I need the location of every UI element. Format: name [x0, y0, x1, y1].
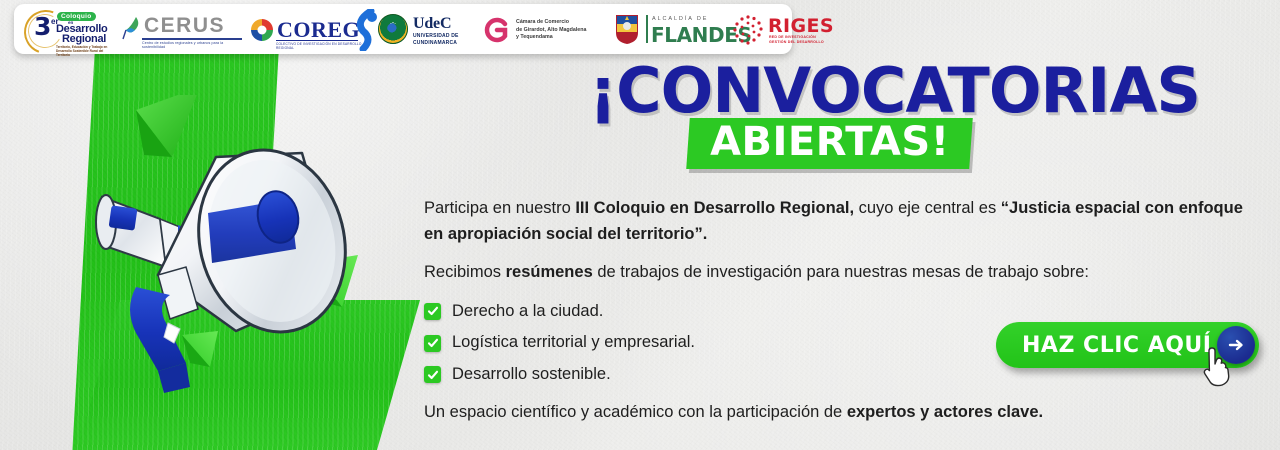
coreg-mark-icon	[250, 18, 274, 42]
flandes-kicker: ALCALDÍA DE	[652, 16, 708, 22]
list-item-label: Derecho a la ciudad.	[452, 299, 603, 325]
camara-line1: Cámara de Comercio	[516, 19, 569, 25]
udec-line2: CUNDINAMARCA	[413, 40, 457, 46]
coloquio-tagline: Territorio, Educación y Trabajo en Desar…	[56, 45, 112, 57]
logo-udec: UdeC UNIVERSIDAD DE CUNDINAMARCA	[374, 7, 480, 51]
riges-line1: RED DE INVESTIGACIÓN	[769, 35, 816, 39]
p3-bold1: expertos y actores clave.	[847, 403, 1043, 421]
coloquio-number: 3	[34, 14, 51, 39]
camara-text: Cámara de Comercio de Girardot, Alto Mag…	[516, 19, 608, 42]
check-icon	[424, 335, 441, 352]
headline: ¡CONVOCATORIAS	[500, 60, 1200, 122]
megaphone-illustration	[40, 95, 400, 415]
flandes-divider	[646, 15, 648, 43]
check-icon	[424, 303, 441, 320]
coreg-rule	[276, 40, 358, 41]
list-item-label: Logística territorial y empresarial.	[452, 330, 695, 356]
megaphone-large	[130, 134, 364, 393]
coloquio-line2: Regional	[62, 34, 106, 45]
p1-bold1: III Coloquio en Desarrollo Regional,	[575, 199, 854, 217]
logo-cerus: CERUS Centro de estudios regionales y ur…	[118, 7, 246, 51]
paragraph-1: Participa en nuestro III Coloquio en Des…	[424, 196, 1260, 247]
camara-line3: y Tequendama	[516, 34, 553, 40]
cerus-title: CERUS	[144, 14, 225, 38]
subhead-text: ABIERTAS!	[710, 122, 949, 162]
riges-subtitle: RED DE INVESTIGACIÓN GESTIÓN DEL DESARRO…	[769, 35, 824, 46]
logo-coloquio: 3 er Coloquio en Desarrollo Regional Ter…	[22, 7, 118, 51]
p3-part1: Un espacio científico y académico con la…	[424, 403, 847, 421]
udec-subtitle: UNIVERSIDAD DE CUNDINAMARCA	[413, 33, 459, 47]
logo-camara-comercio: Cámara de Comercio de Girardot, Alto Mag…	[480, 7, 608, 51]
flandes-shield-icon	[614, 13, 640, 45]
green-arrow-triangle-bottom	[182, 331, 218, 367]
cerus-leaf-icon	[122, 16, 142, 40]
subhead-chip: ABIERTAS!	[687, 118, 974, 169]
promotional-banner: 3 er Coloquio en Desarrollo Regional Ter…	[0, 0, 1280, 450]
riges-line2: GESTIÓN DEL DESARROLLO	[769, 40, 824, 44]
logo-coreg: COREG COLECTIVO DE INVESTIGACIÓN EN DESA…	[246, 7, 374, 51]
body-copy: Participa en nuestro III Coloquio en Des…	[424, 196, 1260, 439]
paragraph-3: Un espacio científico y académico con la…	[424, 400, 1260, 426]
cerus-rule	[142, 38, 242, 40]
riges-dots-icon	[732, 14, 764, 46]
camara-g-icon	[484, 17, 510, 43]
cursor-hand-icon	[1200, 347, 1234, 387]
subhead-wrapper: ABIERTAS!	[640, 118, 1020, 169]
riges-title: RIGES	[768, 15, 834, 37]
cta-label: HAZ CLIC AQUÍ	[1022, 333, 1211, 358]
p2-part1: Recibimos	[424, 263, 506, 281]
p1-part1: Participa en nuestro	[424, 199, 575, 217]
coloquio-pill: Coloquio	[57, 12, 96, 21]
list-item-label: Desarrollo sostenible.	[452, 362, 611, 388]
paragraph-2: Recibimos resúmenes de trabajos de inves…	[424, 260, 1260, 286]
cerus-subtitle: Centro de estudios regionales y urbanos …	[142, 41, 246, 49]
p2-part2: de trabajos de investigación para nuestr…	[593, 263, 1089, 281]
logo-alcaldia-flandes: ALCALDÍA DE FLANDES	[608, 7, 728, 51]
logo-riges: RIGES RED DE INVESTIGACIÓN GESTIÓN DEL D…	[728, 7, 850, 51]
green-arrow-triangle-top	[136, 95, 200, 157]
sponsor-logo-bar: 3 er Coloquio en Desarrollo Regional Ter…	[14, 4, 792, 54]
coreg-subtitle: COLECTIVO DE INVESTIGACIÓN EN DESARROLLO…	[276, 42, 374, 50]
udec-seal-icon	[378, 14, 408, 44]
udec-title: UdeC	[413, 15, 451, 33]
p2-bold1: resúmenes	[506, 263, 593, 281]
p1-part2: cuyo eje central es	[854, 199, 1001, 217]
list-item: Derecho a la ciudad.	[424, 299, 1260, 325]
udec-line1: UNIVERSIDAD DE	[413, 33, 459, 39]
check-icon	[424, 366, 441, 383]
camara-line2: de Girardot, Alto Magdalena	[516, 27, 586, 33]
